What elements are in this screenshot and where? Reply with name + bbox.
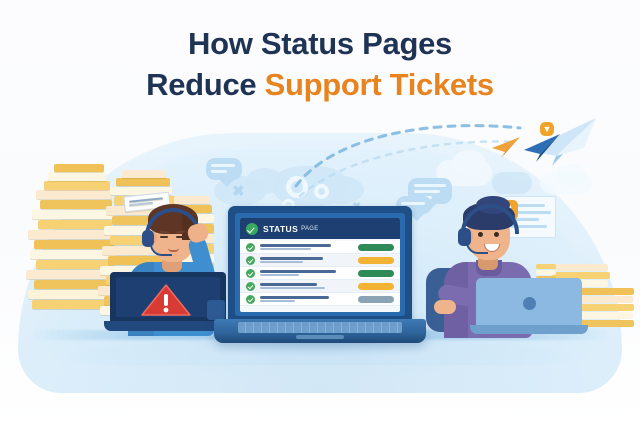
status-row[interactable] [240,280,400,293]
status-row-label [260,244,358,250]
status-pill [358,244,394,251]
right-agent-laptop [470,278,588,336]
status-row-label [260,283,358,289]
check-circle-icon [246,256,255,265]
laptop-keyboard-deck [214,319,426,343]
cloud-shape [492,172,532,194]
status-pill [358,270,394,277]
gear-icon [314,184,329,199]
status-row[interactable] [240,267,400,280]
laptop-bezel: STATUS PAGE [235,213,405,316]
status-row-label [260,270,358,276]
status-page-laptop: STATUS PAGE [214,206,426,351]
check-circle-icon [246,243,255,252]
status-row-label [260,257,358,263]
agent-hand-left [434,300,456,314]
title-line-2-accent: Support Tickets [265,67,494,102]
check-circle-icon [246,269,255,278]
laptop-trackpad[interactable] [296,335,344,339]
status-page-subtitle: PAGE [301,226,318,232]
plane-badge-icon: ▼ [540,122,554,136]
status-pill [358,283,394,290]
red-warning-triangle-icon [140,283,192,322]
green-check-circle-icon [246,223,258,235]
status-row[interactable] [240,254,400,267]
check-circle-icon [246,295,255,304]
status-page-title: STATUS [263,224,298,234]
laptop-keyboard[interactable] [238,322,402,333]
status-row[interactable] [240,293,400,306]
ticket-stack-right-small [596,250,636,330]
banner-title: How Status Pages Reduce Support Tickets [0,24,640,106]
laptop-base [470,325,588,334]
laptop-lid: STATUS PAGE [228,206,412,321]
check-circle-icon [246,282,255,291]
headset-mic-icon [466,242,488,254]
status-row-label [260,296,358,302]
title-line-1: How Status Pages [0,24,640,65]
title-line-2-plain: Reduce [146,67,265,102]
cloud-shape-white [452,150,486,176]
status-pill [358,296,394,303]
illustration-canvas: How Status Pages Reduce Support Tickets … [0,0,640,427]
gear-icon [286,176,308,198]
cloud-shape-white [556,164,586,186]
status-row-list [240,239,400,306]
paper-plane-icon [528,118,596,166]
laptop-logo-icon [523,297,536,310]
status-page-screen[interactable]: STATUS PAGE [240,218,400,312]
headset-mic-icon [150,244,172,256]
status-page-header: STATUS PAGE [240,218,400,239]
status-row[interactable] [240,241,400,254]
paper-plane-icon-dark [524,134,560,162]
title-line-2: Reduce Support Tickets [0,65,640,106]
laptop-base [104,321,232,331]
status-pill [358,257,394,264]
